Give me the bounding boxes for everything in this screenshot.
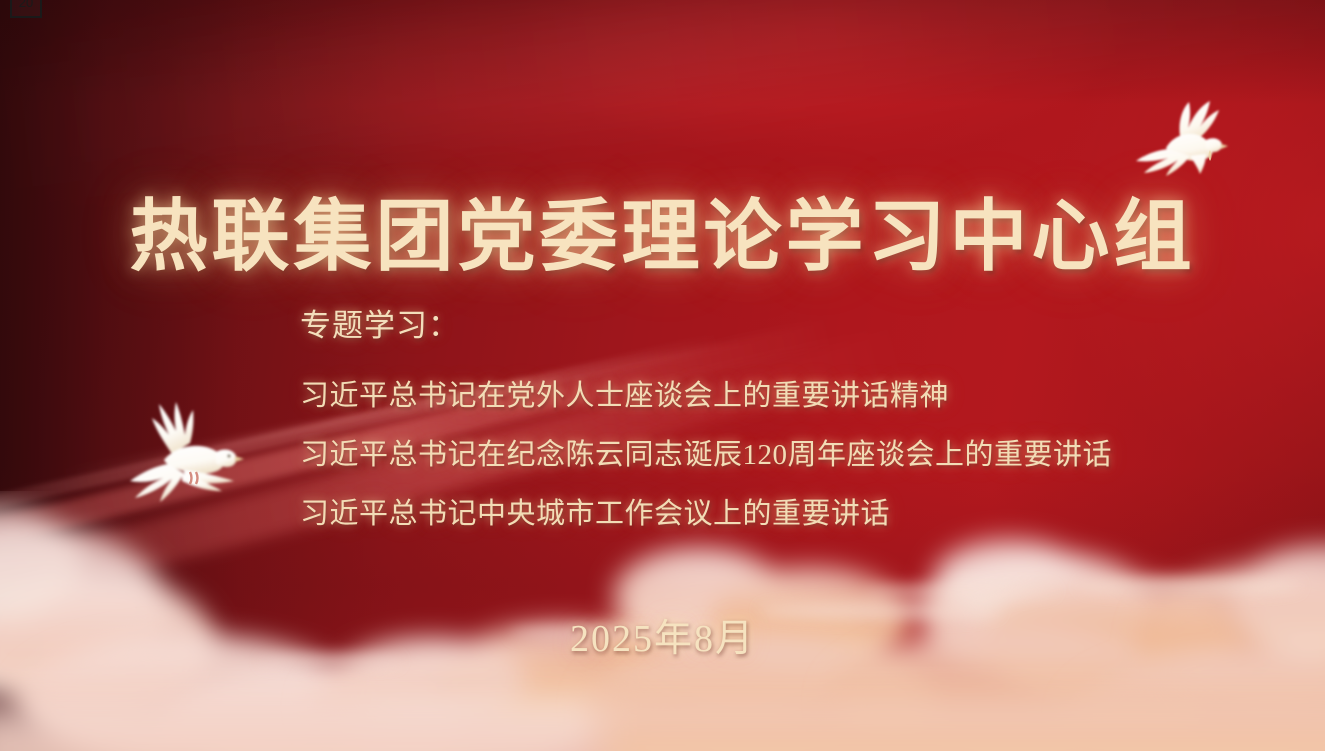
body-subheading: 专题学习： bbox=[300, 300, 1200, 345]
dove-icon-top-right bbox=[1128, 92, 1248, 184]
study-topic-item-2: 习近平总书记在纪念陈云同志诞辰120周年座谈会上的重要讲话 bbox=[300, 426, 1200, 485]
study-topic-item-3: 习近平总书记中央城市工作会议上的重要讲话 bbox=[300, 485, 1200, 544]
study-topic-item-1: 习近平总书记在党外人士座谈会上的重要讲话精神 bbox=[300, 367, 1200, 426]
presentation-slide: 热联集团党委理论学习中心组 专题学习： 习近平总书记在党外人士座谈会上的重要讲话… bbox=[0, 0, 1325, 751]
slide-title: 热联集团党委理论学习中心组 bbox=[0, 174, 1325, 286]
slide-body: 专题学习： 习近平总书记在党外人士座谈会上的重要讲话精神 习近平总书记在纪念陈云… bbox=[300, 300, 1200, 544]
dove-icon-middle-left bbox=[112, 396, 252, 506]
slide-date: 2025年8月 bbox=[0, 607, 1325, 662]
slide-number-marker[interactable]: 20 bbox=[10, 0, 42, 18]
